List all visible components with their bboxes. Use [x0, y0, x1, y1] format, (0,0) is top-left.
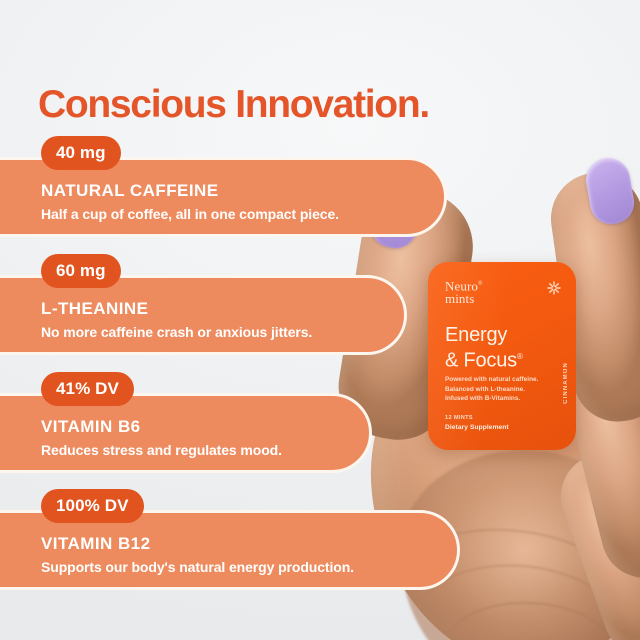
product-brand: Neuro® mints: [445, 278, 483, 305]
benefit-badge: 100% DV: [41, 489, 144, 523]
benefit-description: No more caffeine crash or anxious jitter…: [41, 323, 312, 341]
product-title-line-1: Energy: [445, 324, 507, 346]
benefit-title: VITAMIN B12: [41, 534, 150, 554]
page-title: Conscious Innovation.: [38, 83, 429, 127]
product-count: 12 MINTS: [445, 414, 473, 423]
registered-mark: ®: [478, 281, 483, 287]
benefit-title: VITAMIN B6: [41, 417, 141, 437]
brand-subname: mints: [445, 291, 474, 306]
product-title: Energy & Focus®: [445, 324, 523, 372]
benefit-title: NATURAL CAFFEINE: [41, 181, 219, 201]
benefit-description: Half a cup of coffee, all in one compact…: [41, 205, 339, 223]
benefit-badge: 60 mg: [41, 254, 121, 288]
product-description: Powered with natural caffeine. Balanced …: [445, 375, 538, 404]
product-category: Dietary Supplement: [445, 423, 509, 432]
benefit-badge: 41% DV: [41, 372, 134, 406]
product-title-superscript: ®: [517, 352, 523, 361]
product-description-line-1: Powered with natural caffeine.: [445, 376, 538, 383]
product-description-line-2: Balanced with L-theanine.: [445, 386, 525, 393]
starburst-icon: [546, 280, 562, 296]
benefit-title: L-THEANINE: [41, 299, 148, 319]
product-flavor: CINNAMON: [563, 362, 569, 404]
benefit-description: Reduces stress and regulates mood.: [41, 441, 282, 459]
benefit-badge: 40 mg: [41, 136, 121, 170]
benefit-description: Supports our body's natural energy produ…: [41, 558, 354, 576]
product-title-line-2: & Focus: [445, 350, 517, 372]
promo-image: Neuro® mints Energy & Focus®: [0, 0, 640, 640]
product-description-line-3: Infused with B-Vitamins.: [445, 395, 520, 402]
product-tin: Neuro® mints Energy & Focus®: [428, 262, 576, 450]
